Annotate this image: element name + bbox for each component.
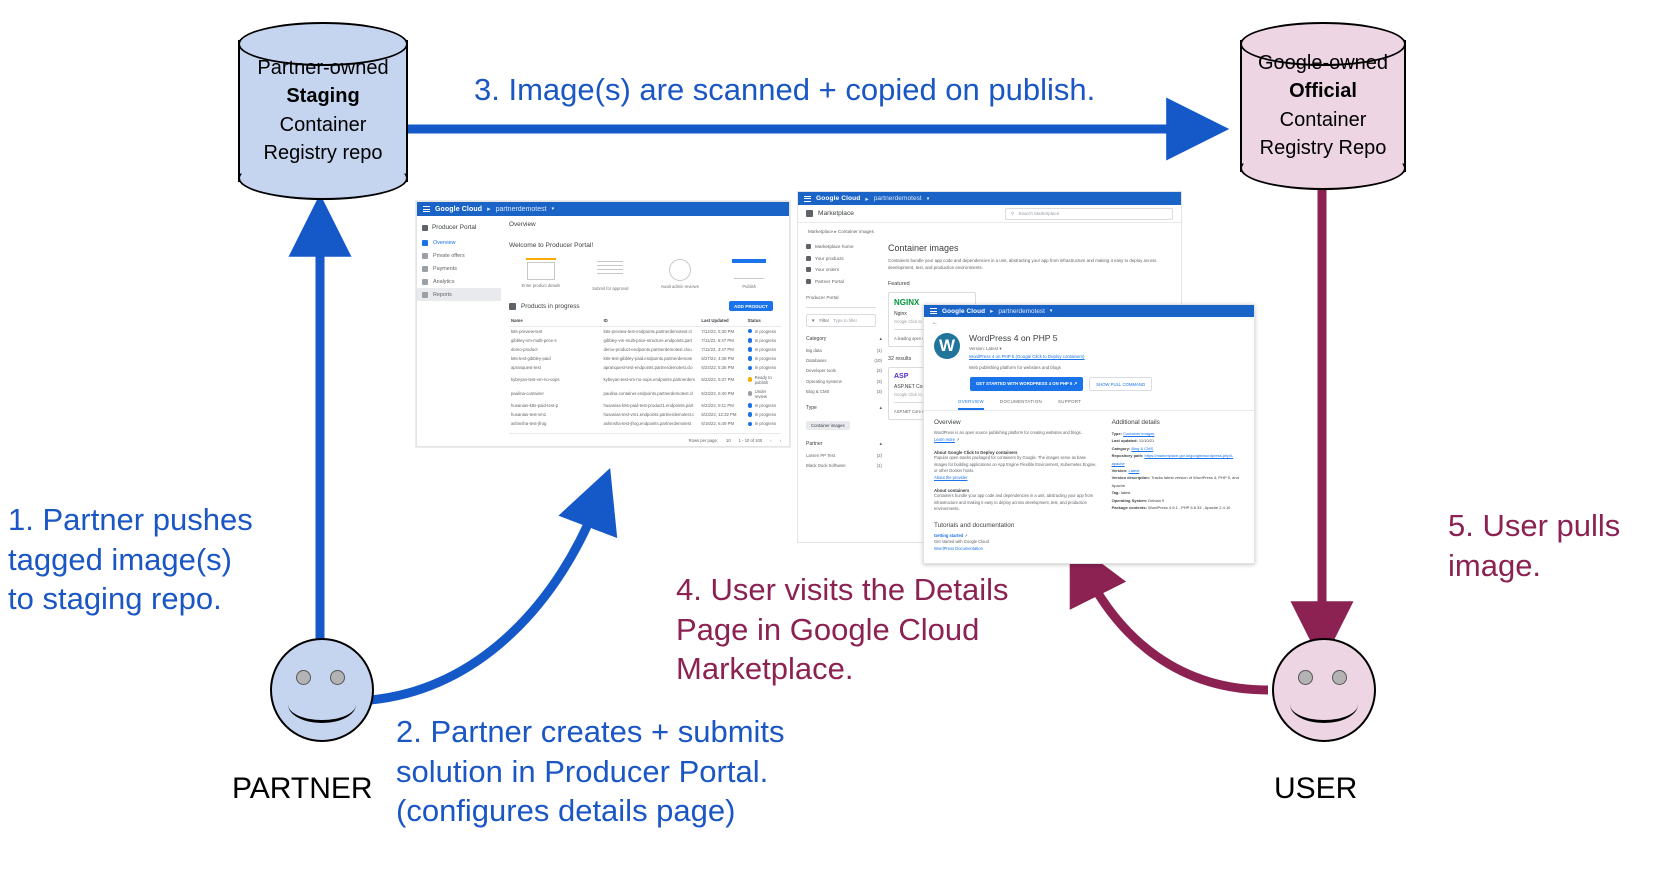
status-label: In progress bbox=[755, 347, 777, 352]
learn-more-link[interactable]: Learn more bbox=[934, 437, 955, 442]
detail-key: Package contents: bbox=[1112, 505, 1147, 510]
cell-status: In progress bbox=[746, 326, 781, 336]
mk-app-name: Marketplace bbox=[818, 210, 854, 217]
flow-step: Enter product details bbox=[509, 258, 573, 288]
status-dot-icon bbox=[748, 422, 753, 427]
detail-row: Type: Container images bbox=[1112, 430, 1244, 437]
cell-status: In progress bbox=[746, 401, 781, 410]
payments-icon bbox=[422, 266, 428, 272]
facet-title: Category bbox=[806, 336, 826, 342]
page-range: 1 - 10 of 100 bbox=[739, 438, 763, 443]
flow-step-label: Publish bbox=[718, 284, 782, 289]
cell-updated: 6/24/22, 5:36 PM bbox=[699, 363, 745, 372]
external-link-icon: ↗ bbox=[955, 437, 960, 442]
tutorial-link[interactable]: Getting started bbox=[934, 533, 963, 538]
dp-product-head: W WordPress 4 on PHP 5 Version: Latest ▾… bbox=[924, 329, 1254, 370]
cell-updated: 6/27/22, 4:38 PM bbox=[699, 354, 745, 363]
filter-placeholder: Type to filter bbox=[833, 318, 857, 323]
status-dot-icon bbox=[748, 377, 753, 382]
sidebar-label: Your orders bbox=[815, 267, 839, 272]
sidebar-label: Marketplace home bbox=[815, 244, 854, 249]
cell-name: demo-product bbox=[509, 345, 601, 354]
additional-details-heading: Additional details bbox=[1112, 419, 1244, 426]
get-started-label: GET STARTED WITH WORDPRESS 4 ON PHP 5 bbox=[976, 381, 1072, 386]
col-status[interactable]: Status bbox=[746, 316, 781, 327]
pp-product-name: Google Cloud bbox=[435, 206, 482, 213]
add-product-button[interactable]: ADD PRODUCT bbox=[729, 301, 773, 311]
flow-step-label: Await admin reviews bbox=[648, 284, 712, 289]
pp-welcome: Welcome to Producer Portal! bbox=[509, 242, 781, 249]
dp-tabs: OVERVIEW DOCUMENTATION SUPPORT bbox=[924, 391, 1254, 411]
dp-project-selector[interactable]: partnerdemotest bbox=[998, 308, 1045, 315]
additional-details-list: Type: Container imagesLast updated: 11/1… bbox=[1112, 430, 1244, 511]
status-label: In progress bbox=[755, 329, 777, 334]
pp-page-title: Overview bbox=[509, 221, 781, 228]
tutorials-heading: Tutorials and documentation bbox=[934, 522, 1100, 529]
dp-product-name: Google Cloud bbox=[942, 308, 985, 315]
step-1-caption: 1. Partner pushes tagged image(s) to sta… bbox=[8, 500, 338, 619]
detail-row: Repository path: https://marketplace.gcr… bbox=[1112, 452, 1244, 467]
cell-status: In progress bbox=[746, 354, 781, 363]
get-started-button[interactable]: GET STARTED WITH WORDPRESS 4 ON PHP 5 ↗ bbox=[970, 377, 1083, 391]
cell-updated: 6/23/22, 12:32 PM bbox=[699, 410, 745, 419]
cell-id: apranquest-test-endpoints.partnerdemotes… bbox=[601, 363, 699, 372]
store-icon bbox=[422, 225, 428, 231]
col-id[interactable]: ID bbox=[601, 316, 699, 327]
chevron-down-icon[interactable]: ▾ bbox=[1050, 308, 1053, 314]
status-dot-icon bbox=[748, 412, 753, 417]
facet-option-label: Larsen PP Test bbox=[806, 453, 835, 458]
cell-id: paulina-container.endpoints.partnerdemot… bbox=[601, 387, 699, 401]
status-label: In progress bbox=[755, 403, 777, 408]
facet-group: Type▴Container images bbox=[806, 405, 882, 432]
table-row[interactable]: k8s-preview-testk8s-preview-test-endpoin… bbox=[509, 326, 781, 336]
facet-header[interactable]: Category▴ bbox=[806, 336, 882, 345]
cell-status: Ready to publish bbox=[746, 372, 781, 386]
chevron-down-icon[interactable]: ▾ bbox=[927, 196, 930, 202]
filter-input[interactable]: ▼ Filter Type to filter bbox=[806, 314, 876, 327]
facet-option[interactable]: Black Duck Software(1) bbox=[806, 461, 882, 471]
sidebar-section-producer-portal[interactable]: Producer Portal bbox=[806, 287, 882, 303]
detail-row: Category: Blog & CMS bbox=[1112, 445, 1244, 452]
sidebar-item-partner-portal[interactable]: Partner Portal bbox=[806, 276, 882, 288]
arrow-step-2 bbox=[370, 500, 598, 700]
flow-step-art bbox=[579, 261, 643, 283]
node-official-repo: Google-owned Official Container Registry… bbox=[1240, 22, 1406, 190]
search-input[interactable]: ⚲ Search Marketplace bbox=[1005, 208, 1173, 220]
facet-option[interactable]: Larsen PP Test(2) bbox=[806, 450, 882, 460]
products-table: Name ID Last Updated Status k8s-preview-… bbox=[509, 316, 781, 429]
cell-status: In progress bbox=[746, 410, 781, 419]
table-row[interactable]: husanias-test-vm1husanias-test-vm1.endpo… bbox=[509, 410, 781, 419]
facet-option[interactable]: Blog & CMS(3) bbox=[806, 386, 882, 396]
filter-icon: ▼ bbox=[811, 318, 815, 323]
col-name[interactable]: Name bbox=[509, 316, 601, 327]
status-dot-icon bbox=[748, 366, 753, 371]
smile-icon bbox=[1290, 686, 1358, 723]
sidebar-item-analytics[interactable]: Analytics bbox=[417, 275, 501, 288]
detail-key: Category: bbox=[1112, 446, 1131, 451]
hamburger-menu-icon[interactable] bbox=[930, 308, 937, 314]
cell-id: demo-product-endpoints.partnerdemotest.c… bbox=[601, 345, 699, 354]
eye-left-icon bbox=[296, 670, 311, 685]
sidebar-item-your-orders[interactable]: Your orders bbox=[806, 264, 882, 276]
doc-link[interactable]: WordPress Documentation bbox=[934, 546, 983, 551]
status-dot-icon bbox=[748, 391, 753, 396]
table-row[interactable]: kybeyan-test-vm-no-oopskybeyan-test-vm-n… bbox=[509, 372, 781, 386]
version-value[interactable]: Latest bbox=[986, 346, 998, 351]
facet-group: Category▴Big data(1)Databases(10)Develop… bbox=[806, 336, 882, 396]
status-label: In progress bbox=[755, 365, 777, 370]
cell-status: In progress bbox=[746, 336, 781, 345]
dp-actions: GET STARTED WITH WORDPRESS 4 ON PHP 5 ↗ … bbox=[924, 370, 1254, 391]
smile-icon bbox=[288, 686, 356, 723]
tab-support[interactable]: SUPPORT bbox=[1058, 399, 1081, 410]
cell-id: k8s-preview-test-endpoints.partnerdemote… bbox=[601, 326, 699, 336]
mk-product-name: Google Cloud bbox=[816, 195, 860, 202]
cell-name: k8s-test-gibbley-paid bbox=[509, 354, 601, 363]
facet-header[interactable]: Partner▴ bbox=[806, 441, 882, 450]
sidebar-label: Your products bbox=[815, 256, 844, 261]
flow-step: Publish bbox=[718, 258, 782, 289]
sidebar-label: Payments bbox=[433, 266, 457, 272]
detail-row: Last updated: 11/10/21 bbox=[1112, 437, 1244, 444]
pp-main: Overview Welcome to Producer Portal! Ent… bbox=[501, 216, 789, 446]
status-label: Ready to publish bbox=[755, 375, 779, 385]
mk-project-selector[interactable]: partnerdemotest bbox=[874, 195, 922, 202]
prev-page-icon[interactable]: ‹ bbox=[770, 438, 771, 443]
facet-option-label: Operating systems bbox=[806, 379, 842, 384]
dp-overview-col: Overview WordPress is an open source pub… bbox=[934, 419, 1100, 553]
flow-step: Await admin reviews bbox=[648, 258, 712, 289]
chevron-down-icon[interactable]: ▾ bbox=[552, 206, 555, 212]
official-repo-label: Google-owned Official Container Registry… bbox=[1240, 49, 1406, 163]
reports-icon bbox=[422, 292, 428, 298]
sidebar-label: Private offers bbox=[433, 253, 465, 259]
chevron-down-icon[interactable]: ▾ bbox=[999, 346, 1001, 351]
overview-heading: Overview bbox=[934, 419, 1100, 426]
table-row[interactable]: paulina-containerpaulina-container.endpo… bbox=[509, 387, 781, 401]
staging-line-3: Container bbox=[238, 111, 408, 139]
status-dot-icon bbox=[748, 403, 753, 408]
cell-name: kybeyan-test-vm-no-oops bbox=[509, 372, 601, 386]
facet-option[interactable]: Big data(1) bbox=[806, 345, 882, 355]
hamburger-menu-icon[interactable] bbox=[423, 206, 430, 212]
facet-option-label: Black Duck Software bbox=[806, 463, 846, 468]
detail-key: Version: bbox=[1112, 468, 1128, 473]
detail-key: Operating System: bbox=[1112, 498, 1148, 503]
cell-updated: 6/23/22, 6:40 PM bbox=[699, 387, 745, 401]
cell-name: husanias-test-vm1 bbox=[509, 410, 601, 419]
table-row[interactable]: k8s-test-gibbley-paidk8s-test-gibbley-pa… bbox=[509, 354, 781, 363]
dp-topbar: Google Cloud ▸ partnerdemotest ▾ bbox=[924, 305, 1254, 317]
featured-label: Featured bbox=[888, 281, 1173, 287]
sidebar-label: Analytics bbox=[433, 279, 455, 285]
facet-option-count: (10) bbox=[874, 358, 882, 363]
project-chevron-icon[interactable]: ▸ bbox=[990, 307, 993, 315]
official-line-3: Container bbox=[1240, 106, 1406, 134]
pp-project-selector[interactable]: partnerdemotest bbox=[496, 206, 547, 213]
next-page-icon[interactable]: › bbox=[780, 438, 781, 443]
tab-documentation[interactable]: DOCUMENTATION bbox=[1000, 399, 1042, 410]
eye-right-icon bbox=[1332, 670, 1347, 685]
flow-step: Submit for approval bbox=[579, 258, 643, 291]
pp-sidebar: Producer Portal Overview Private offers … bbox=[417, 216, 501, 446]
cell-id: k8s-test-gibbley-paid.endpoints.partnerd… bbox=[601, 354, 699, 363]
sidebar-item-payments[interactable]: Payments bbox=[417, 263, 501, 276]
flow-step-art bbox=[718, 259, 782, 281]
arrow-step-4 bbox=[1085, 570, 1268, 690]
step-5-caption: 5. User pulls image. bbox=[1448, 506, 1678, 585]
node-staging-repo: Partner-owned Staging Container Registry… bbox=[238, 22, 408, 200]
table-row[interactable]: gibbley-vm-multi-price-sgibbley-vm-multi… bbox=[509, 336, 781, 345]
cell-status: In progress bbox=[746, 345, 781, 354]
flow-step-label: Submit for approval bbox=[579, 286, 643, 291]
facet-option[interactable]: Databases(10) bbox=[806, 356, 882, 366]
project-chevron-icon[interactable]: ▸ bbox=[865, 195, 868, 203]
dp-tagline: Web publishing platform for websites and… bbox=[969, 365, 1085, 370]
hamburger-menu-icon[interactable] bbox=[804, 196, 811, 202]
facet-option[interactable]: Operating systems(3) bbox=[806, 376, 882, 386]
official-line-1: Google-owned bbox=[1240, 49, 1406, 77]
cell-updated: 7/11/22, 4:47 PM bbox=[699, 345, 745, 354]
filter-label: Filter bbox=[819, 318, 829, 323]
mk-page-desc: Containers bundle your app code and depe… bbox=[888, 258, 1173, 272]
breadcrumb-root[interactable]: Marketplace bbox=[808, 229, 833, 234]
staging-repo-label: Partner-owned Staging Container Registry… bbox=[238, 54, 408, 168]
detail-row: Version: Latest bbox=[1112, 467, 1244, 474]
home-icon bbox=[422, 240, 428, 246]
staging-line-2: Staging bbox=[238, 83, 408, 111]
status-dot-icon bbox=[748, 338, 753, 343]
step-4-caption: 4. User visits the Details Page in Googl… bbox=[676, 570, 1066, 689]
table-header-row: Name ID Last Updated Status bbox=[509, 316, 781, 327]
tab-overview[interactable]: OVERVIEW bbox=[958, 399, 984, 410]
sidebar-item-private-offers[interactable]: Private offers bbox=[417, 250, 501, 263]
detail-value: 11/10/21 bbox=[1139, 438, 1154, 443]
user-avatar bbox=[1272, 638, 1376, 742]
step-2-caption: 2. Partner creates + submits solution in… bbox=[396, 712, 866, 831]
official-line-4: Registry Repo bbox=[1240, 134, 1406, 162]
about-provider-link[interactable]: About the provider bbox=[934, 475, 967, 480]
cell-id: gibbley-vm-multi-price-structure.endpoin… bbox=[601, 336, 699, 345]
detail-value: WordPress 4.9.1 , PHP 5.6.33 , Apache 2.… bbox=[1148, 505, 1230, 510]
step-3-caption: 3. Image(s) are scanned + copied on publ… bbox=[474, 70, 1095, 110]
partner-label: PARTNER bbox=[232, 772, 373, 806]
flow-step-art bbox=[648, 259, 712, 281]
cell-name: gibbley-vm-multi-price-s bbox=[509, 336, 601, 345]
cell-id: husanias-test-vm1.endpoints.partnerdemot… bbox=[601, 410, 699, 419]
cart-icon bbox=[806, 210, 813, 217]
mk-header: Marketplace ⚲ Search Marketplace bbox=[798, 205, 1181, 223]
pp-topbar: Google Cloud ▸ partnerdemotest ▾ bbox=[417, 202, 789, 216]
facet-option[interactable]: Container images bbox=[806, 414, 882, 432]
external-link-icon: ↗ bbox=[963, 533, 968, 538]
flow-step-art bbox=[509, 258, 573, 280]
products-icon bbox=[509, 303, 516, 310]
detail-key: Type: bbox=[1112, 431, 1122, 436]
table-row[interactable]: demo-productdemo-product-endpoints.partn… bbox=[509, 345, 781, 354]
dp-product-link[interactable]: WordPress 4 on PHP 5 (Google Click to De… bbox=[969, 354, 1085, 359]
about-containers-text: Containers bundle your app code and depe… bbox=[934, 493, 1100, 513]
search-placeholder: Search Marketplace bbox=[1018, 211, 1059, 216]
cell-id: ashinsha-test-jfrog.endpoints.partnerdem… bbox=[601, 419, 699, 428]
sidebar-item-overview[interactable]: Overview bbox=[417, 237, 501, 250]
col-last-updated[interactable]: Last Updated bbox=[699, 316, 745, 327]
pp-pagination: Rows per page: 10 1 - 10 of 100 ‹ › bbox=[509, 433, 781, 443]
table-row[interactable]: apranquest-testapranquest-test-endpoints… bbox=[509, 363, 781, 372]
facet-option-label: Container images bbox=[806, 421, 850, 430]
status-label: In progress bbox=[755, 338, 777, 343]
wordpress-logo-icon: W bbox=[934, 333, 960, 359]
offers-icon bbox=[422, 253, 428, 259]
flow-step-label: Enter product details bbox=[509, 283, 573, 288]
eye-right-icon bbox=[330, 670, 345, 685]
status-dot-icon bbox=[748, 347, 753, 352]
facet-list: Category▴Big data(1)Databases(10)Develop… bbox=[806, 336, 882, 470]
sidebar-label: Partner Portal bbox=[815, 279, 844, 284]
orders-icon bbox=[806, 267, 811, 272]
dp-version: Version: Latest ▾ bbox=[969, 346, 1085, 352]
facet-option-label: Databases bbox=[806, 358, 827, 363]
home-icon bbox=[806, 244, 811, 249]
partner-avatar bbox=[270, 638, 374, 742]
breadcrumb: Marketplace ▸ Container images bbox=[798, 223, 1181, 241]
pp-flow-steps: Enter product details Submit for approva… bbox=[509, 258, 781, 291]
detail-value: latest bbox=[1121, 490, 1131, 495]
cell-updated: 6/23/22, 9:11 PM bbox=[699, 401, 745, 410]
cell-updated: 6/16/22, 6:49 PM bbox=[699, 419, 745, 428]
detail-value-link[interactable]: Container images bbox=[1123, 431, 1154, 436]
breadcrumb-current: Container images bbox=[838, 229, 874, 234]
cell-updated: 7/12/22, 6:30 PM bbox=[699, 326, 745, 336]
facet-option[interactable]: Developer tools(3) bbox=[806, 366, 882, 376]
status-dot-icon bbox=[748, 329, 753, 334]
screenshot-producer-portal[interactable]: Google Cloud ▸ partnerdemotest ▾ Produce… bbox=[416, 201, 790, 447]
facet-option-label: Big data bbox=[806, 348, 822, 353]
status-dot-icon bbox=[748, 356, 753, 361]
table-row[interactable]: ashinsha-test-jfrogashinsha-test-jfrog.e… bbox=[509, 419, 781, 428]
cell-updated: 6/23/22, 6:37 PM bbox=[699, 372, 745, 386]
status-label: In progress bbox=[755, 421, 777, 426]
sidebar-item-marketplace-home[interactable]: Marketplace home bbox=[806, 241, 882, 253]
cell-name: paulina-container bbox=[509, 387, 601, 401]
status-label: Under review bbox=[755, 389, 779, 399]
search-icon: ⚲ bbox=[1011, 211, 1014, 217]
pp-section-title: Products in progress bbox=[521, 303, 580, 310]
facet-header[interactable]: Type▴ bbox=[806, 405, 882, 414]
sidebar-item-reports[interactable]: Reports bbox=[417, 288, 501, 301]
official-line-2: Official bbox=[1240, 78, 1406, 106]
detail-row: Version description: Tracks latest versi… bbox=[1112, 474, 1244, 489]
table-row[interactable]: husanias-k8s-paid-test-phusanias-k8s-pai… bbox=[509, 401, 781, 410]
pp-app-name: Producer Portal bbox=[417, 221, 501, 237]
cell-updated: 7/11/22, 6:47 PM bbox=[699, 336, 745, 345]
facet-option-label: Blog & CMS bbox=[806, 389, 829, 394]
facet-option-label: Developer tools bbox=[806, 368, 836, 373]
cell-status: In progress bbox=[746, 419, 781, 428]
staging-line-1: Partner-owned bbox=[238, 54, 408, 82]
staging-line-4: Registry repo bbox=[238, 139, 408, 167]
detail-key: Version description: bbox=[1112, 475, 1150, 480]
cell-status: In progress bbox=[746, 363, 781, 372]
eye-left-icon bbox=[1298, 670, 1313, 685]
pp-section-header: Products in progress ADD PRODUCT bbox=[509, 303, 781, 310]
cell-id: kybeyan-test-vm-no-oops.endpoints.partne… bbox=[601, 372, 699, 386]
sidebar-label: Reports bbox=[433, 292, 452, 298]
cell-name: k8s-preview-test bbox=[509, 326, 601, 336]
show-pull-command-button[interactable]: SHOW PULL COMMAND bbox=[1089, 377, 1152, 391]
pp-app-label: Producer Portal bbox=[432, 224, 476, 231]
status-label: In progress bbox=[755, 412, 777, 417]
dp-additional-details-col: Additional details Type: Container image… bbox=[1112, 419, 1244, 553]
diagram-canvas: Partner-owned Staging Container Registry… bbox=[0, 0, 1679, 896]
about-gcd-text: Popular open stacks packaged for contain… bbox=[934, 455, 1100, 475]
screenshot-details-page[interactable]: Google Cloud ▸ partnerdemotest ▾ ← W Wor… bbox=[923, 304, 1255, 564]
facet-group: Partner▴Larsen PP Test(2)Black Duck Soft… bbox=[806, 441, 882, 470]
sidebar-item-your-products[interactable]: Your products bbox=[806, 253, 882, 265]
detail-row: Operating System: Debian 9 bbox=[1112, 497, 1244, 504]
status-label: In progress bbox=[755, 356, 777, 361]
detail-key: Repository path: bbox=[1112, 453, 1144, 458]
cell-name: ashinsha-test-jfrog bbox=[509, 419, 601, 428]
rows-per-page-label: Rows per page: bbox=[689, 438, 718, 443]
products-icon bbox=[806, 256, 811, 261]
project-chevron-icon[interactable]: ▸ bbox=[487, 205, 491, 213]
analytics-icon bbox=[422, 279, 428, 285]
cell-status: Under review bbox=[746, 387, 781, 401]
dp-title: WordPress 4 on PHP 5 bbox=[969, 333, 1085, 343]
cell-name: husanias-k8s-paid-test-p bbox=[509, 401, 601, 410]
facet-title: Partner bbox=[806, 441, 822, 447]
detail-row: Tag: latest bbox=[1112, 489, 1244, 496]
detail-row: Package contents: WordPress 4.9.1 , PHP … bbox=[1112, 504, 1244, 511]
detail-value: Debian 9 bbox=[1148, 498, 1164, 503]
version-label: Version: bbox=[969, 346, 985, 351]
back-button[interactable]: ← bbox=[924, 317, 1254, 329]
rows-per-page-select[interactable]: 10 bbox=[726, 438, 731, 443]
user-label: USER bbox=[1274, 772, 1357, 806]
external-link-icon: ↗ bbox=[1074, 381, 1078, 386]
portal-icon bbox=[806, 279, 811, 284]
cell-id: husanias-k8s-paid-test-product1.endpoint… bbox=[601, 401, 699, 410]
mk-page-title: Container images bbox=[888, 243, 1173, 253]
cell-name: apranquest-test bbox=[509, 363, 601, 372]
detail-value-link[interactable]: Latest bbox=[1128, 468, 1139, 473]
mk-topbar: Google Cloud ▸ partnerdemotest ▾ bbox=[798, 192, 1181, 205]
mk-sidebar: Marketplace home Your products Your orde… bbox=[798, 241, 882, 471]
facet-title: Type bbox=[806, 405, 817, 411]
detail-key: Last updated: bbox=[1112, 438, 1138, 443]
detail-value-link[interactable]: Blog & CMS bbox=[1131, 446, 1153, 451]
detail-key: Tag: bbox=[1112, 490, 1120, 495]
sidebar-label: Overview bbox=[433, 240, 455, 246]
